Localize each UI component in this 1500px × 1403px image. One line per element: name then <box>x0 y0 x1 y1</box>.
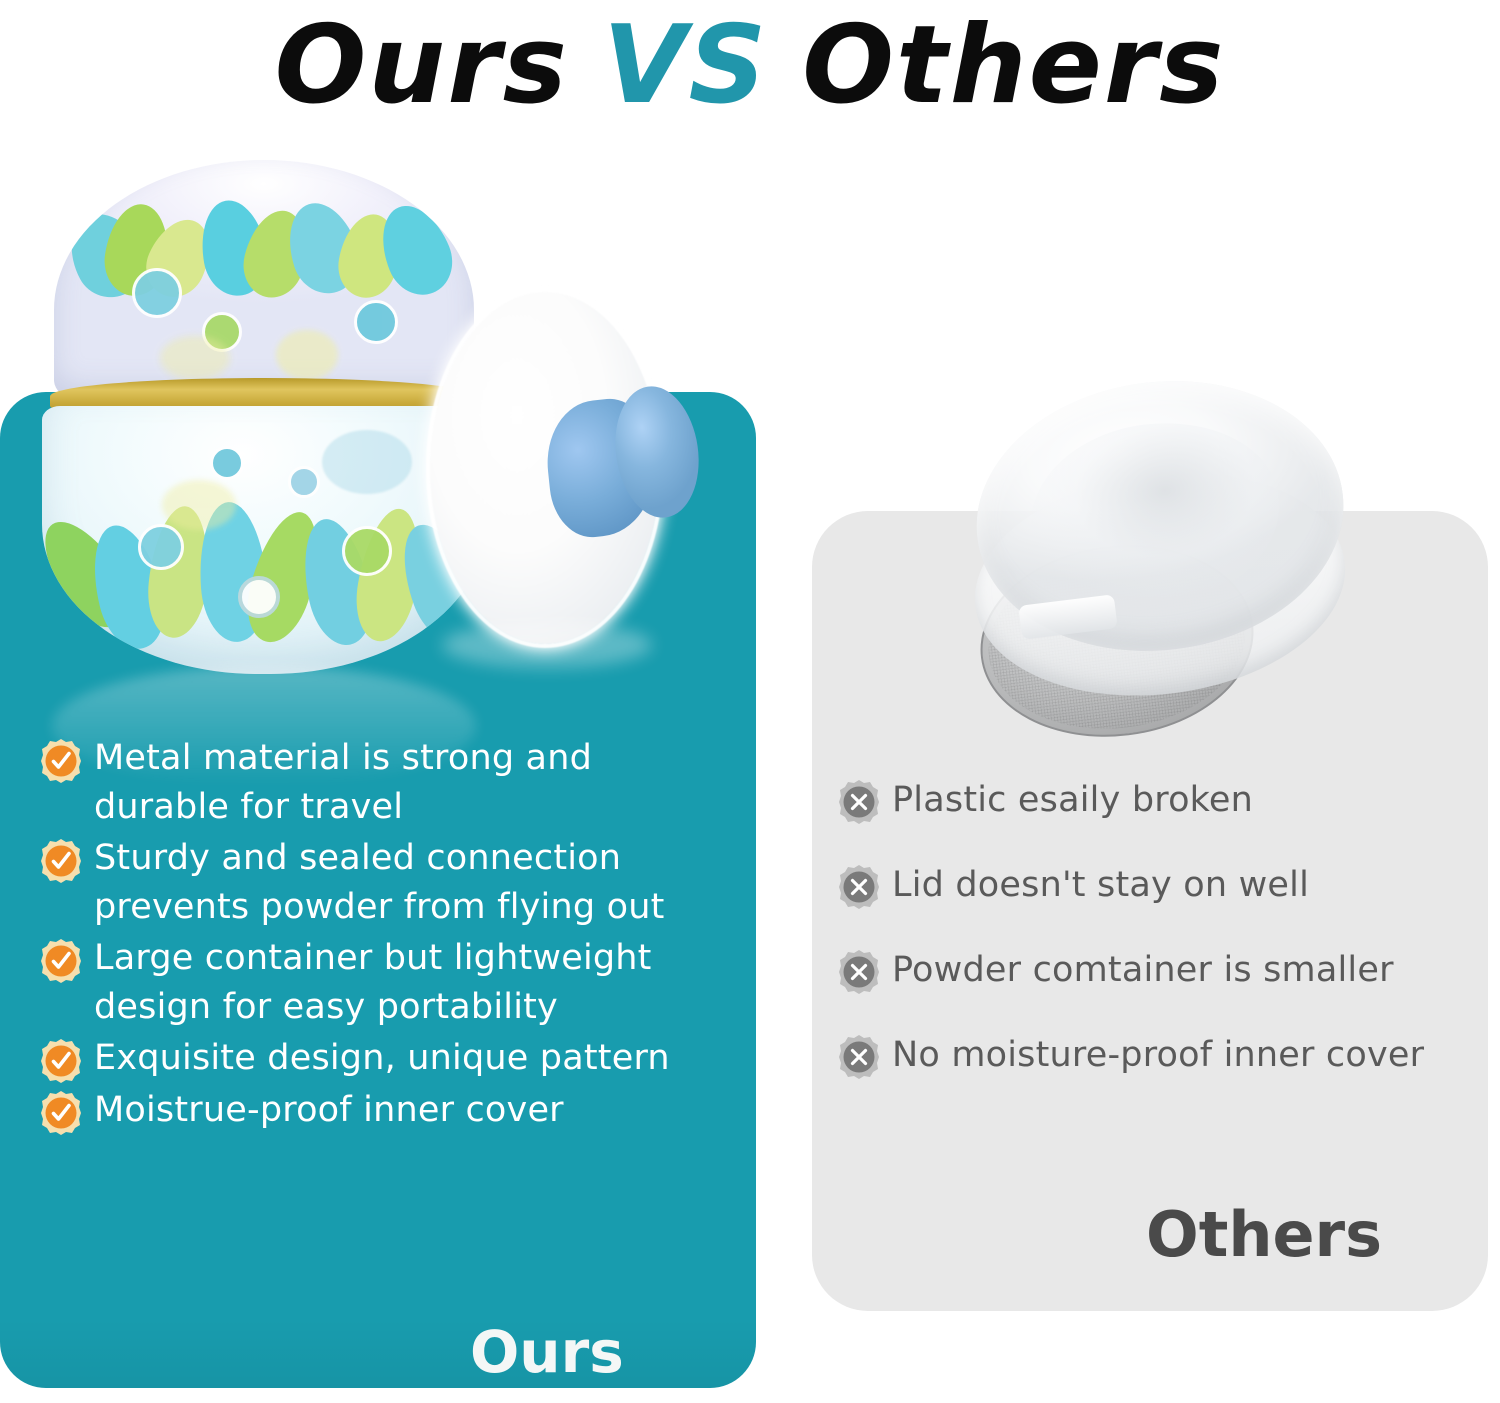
list-item: Lid doesn't stay on well <box>838 860 1478 910</box>
title-others: Others <box>802 3 1225 128</box>
check-badge-icon <box>40 838 82 884</box>
list-item-label: Sturdy and sealed connection prevents po… <box>82 834 724 932</box>
check-badge-icon <box>40 1038 82 1084</box>
cross-badge-icon <box>838 949 880 995</box>
cross-badge-icon <box>838 864 880 910</box>
cross-badge-icon <box>838 779 880 825</box>
cross-badge-icon <box>838 1034 880 1080</box>
list-item-label: Powder comtainer is smaller <box>880 948 1394 992</box>
ours-brand-label: Ours <box>470 1318 624 1386</box>
list-item-label: Exquisite design, unique pattern <box>82 1034 670 1083</box>
list-item: Metal material is strong and durable for… <box>40 734 740 832</box>
list-item: Exquisite design, unique pattern <box>40 1034 740 1084</box>
list-item: Moistrue-proof inner cover <box>40 1086 740 1136</box>
check-badge-icon <box>40 938 82 984</box>
list-item: No moisture-proof inner cover <box>838 1030 1478 1080</box>
page-title: OursVSOthers <box>0 6 1500 127</box>
list-item: Large container but lightweight design f… <box>40 934 740 1032</box>
list-item-label: Moistrue-proof inner cover <box>82 1086 564 1135</box>
title-vs: VS <box>603 3 768 128</box>
others-brand-label: Others <box>1146 1198 1382 1271</box>
list-item-label: Plastic esaily broken <box>880 778 1253 822</box>
list-item-label: Metal material is strong and durable for… <box>82 734 724 832</box>
list-item-label: No moisture-proof inner cover <box>880 1033 1424 1077</box>
list-item: Plastic esaily broken <box>838 775 1478 825</box>
check-badge-icon <box>40 738 82 784</box>
list-item-label: Lid doesn't stay on well <box>880 863 1309 907</box>
list-item-label: Large container but lightweight design f… <box>82 934 724 1032</box>
title-ours: Ours <box>275 3 569 128</box>
others-feature-list: Plastic esaily broken Lid doesn't stay o… <box>838 775 1478 1115</box>
list-item: Sturdy and sealed connection prevents po… <box>40 834 740 932</box>
ours-feature-list: Metal material is strong and durable for… <box>40 734 740 1138</box>
list-item: Powder comtainer is smaller <box>838 945 1478 995</box>
tin-lid <box>54 160 474 400</box>
check-badge-icon <box>40 1090 82 1136</box>
